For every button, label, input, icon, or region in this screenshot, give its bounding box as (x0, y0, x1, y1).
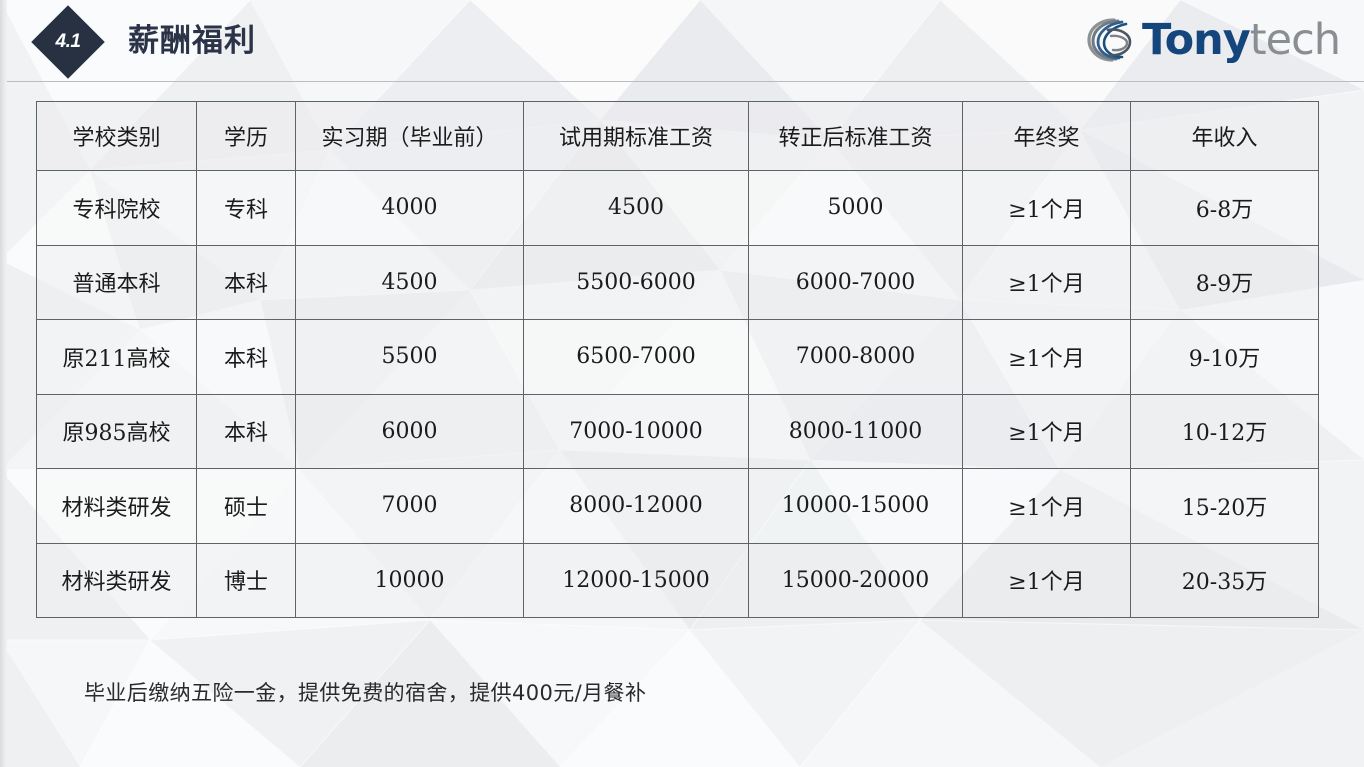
cell-regular: 5000 (749, 171, 963, 246)
cell-internship: 6000 (296, 394, 524, 469)
table-row: 材料类研发 博士 10000 12000-15000 15000-20000 ≥… (37, 543, 1319, 618)
table-row: 原211高校 本科 5500 6500-7000 7000-8000 ≥1个月 … (37, 320, 1319, 395)
cell-probation: 5500-6000 (524, 245, 749, 320)
cell-degree: 硕士 (197, 469, 296, 544)
cell-degree: 本科 (197, 320, 296, 395)
logo-wordmark: Tonytech (1142, 14, 1340, 66)
cell-probation: 6500-7000 (524, 320, 749, 395)
column-header-probation: 试用期标准工资 (524, 102, 749, 171)
table-row: 材料类研发 硕士 7000 8000-12000 10000-15000 ≥1个… (37, 469, 1319, 544)
cell-annual-income: 6-8万 (1131, 171, 1319, 246)
page-title: 薪酬福利 (128, 19, 256, 63)
header-divider (7, 81, 1364, 82)
table-row: 原985高校 本科 6000 7000-10000 8000-11000 ≥1个… (37, 394, 1319, 469)
cell-annual-bonus: ≥1个月 (963, 394, 1131, 469)
cell-annual-income: 20-35万 (1131, 543, 1319, 618)
cell-annual-income: 8-9万 (1131, 245, 1319, 320)
cell-regular: 7000-8000 (749, 320, 963, 395)
cell-internship: 4500 (296, 245, 524, 320)
section-number-label: 4.1 (42, 16, 94, 68)
cell-regular: 6000-7000 (749, 245, 963, 320)
cell-annual-bonus: ≥1个月 (963, 171, 1131, 246)
salary-benefits-table: 学校类别 学历 实习期（毕业前） 试用期标准工资 转正后标准工资 年终奖 年收入… (36, 101, 1319, 618)
table-row: 普通本科 本科 4500 5500-6000 6000-7000 ≥1个月 8-… (37, 245, 1319, 320)
column-header-regular: 转正后标准工资 (749, 102, 963, 171)
table-header-row: 学校类别 学历 实习期（毕业前） 试用期标准工资 转正后标准工资 年终奖 年收入 (37, 102, 1319, 171)
orbit-swirl-icon (1084, 14, 1142, 66)
cell-annual-income: 10-12万 (1131, 394, 1319, 469)
cell-regular: 10000-15000 (749, 469, 963, 544)
column-header-annual-income: 年收入 (1131, 102, 1319, 171)
cell-annual-bonus: ≥1个月 (963, 543, 1131, 618)
cell-internship: 10000 (296, 543, 524, 618)
logo-text-secondary: tech (1250, 15, 1340, 65)
cell-school-type: 普通本科 (37, 245, 197, 320)
cell-internship: 7000 (296, 469, 524, 544)
column-header-school-type: 学校类别 (37, 102, 197, 171)
cell-internship: 4000 (296, 171, 524, 246)
cell-probation: 8000-12000 (524, 469, 749, 544)
logo-text-primary: Tony (1142, 15, 1250, 65)
cell-annual-bonus: ≥1个月 (963, 320, 1131, 395)
table-row: 专科院校 专科 4000 4500 5000 ≥1个月 6-8万 (37, 171, 1319, 246)
slide-header: 4.1 薪酬福利 Tonytech (0, 0, 1364, 82)
column-header-annual-bonus: 年终奖 (963, 102, 1131, 171)
column-header-internship: 实习期（毕业前） (296, 102, 524, 171)
cell-internship: 5500 (296, 320, 524, 395)
left-edge-rail (0, 0, 7, 767)
company-logo: Tonytech (1084, 12, 1340, 68)
cell-regular: 8000-11000 (749, 394, 963, 469)
cell-regular: 15000-20000 (749, 543, 963, 618)
cell-probation: 12000-15000 (524, 543, 749, 618)
cell-annual-bonus: ≥1个月 (963, 245, 1131, 320)
cell-school-type: 材料类研发 (37, 469, 197, 544)
column-header-degree: 学历 (197, 102, 296, 171)
cell-school-type: 原211高校 (37, 320, 197, 395)
cell-school-type: 原985高校 (37, 394, 197, 469)
cell-annual-income: 15-20万 (1131, 469, 1319, 544)
cell-degree: 专科 (197, 171, 296, 246)
cell-school-type: 材料类研发 (37, 543, 197, 618)
cell-degree: 本科 (197, 394, 296, 469)
cell-degree: 博士 (197, 543, 296, 618)
cell-degree: 本科 (197, 245, 296, 320)
cell-probation: 4500 (524, 171, 749, 246)
cell-probation: 7000-10000 (524, 394, 749, 469)
slide-canvas: 4.1 薪酬福利 Tonytech (0, 0, 1364, 767)
benefits-note: 毕业后缴纳五险一金，提供免费的宿舍，提供400元/月餐补 (84, 677, 646, 707)
cell-annual-bonus: ≥1个月 (963, 469, 1131, 544)
section-number-badge: 4.1 (42, 16, 94, 68)
cell-school-type: 专科院校 (37, 171, 197, 246)
cell-annual-income: 9-10万 (1131, 320, 1319, 395)
